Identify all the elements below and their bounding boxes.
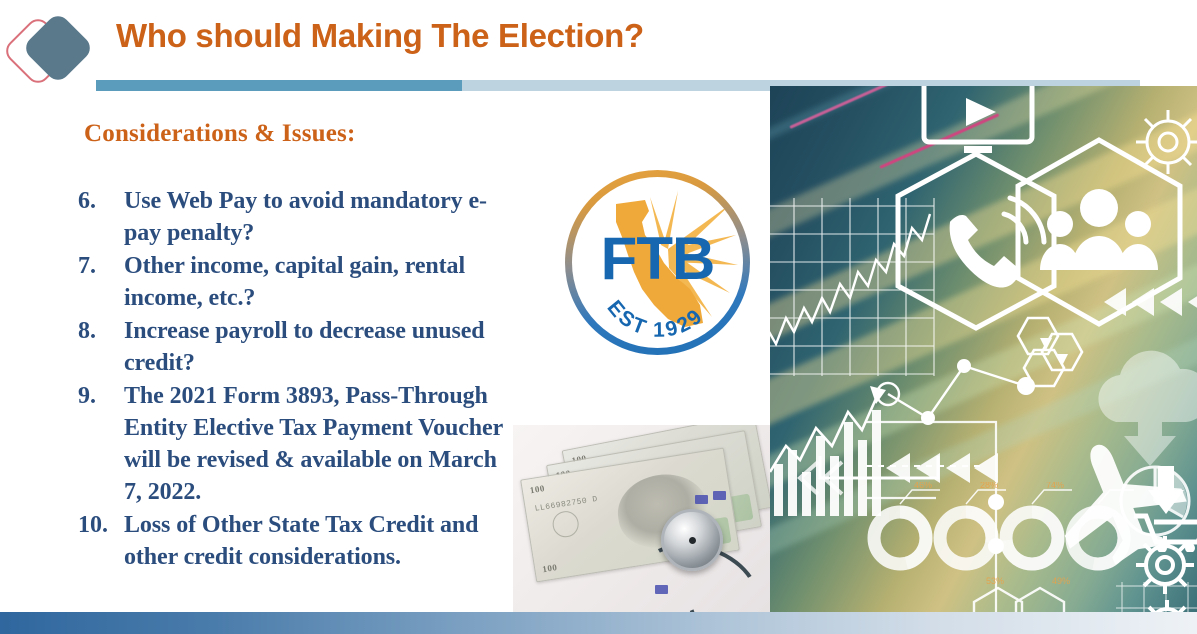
banknote-denomination: 100 — [529, 483, 545, 495]
list-item-number: 9. — [78, 380, 124, 508]
list-item: 7. Other income, capital gain, rental in… — [78, 250, 518, 314]
ftb-established-text: EST 1929 — [572, 177, 743, 348]
list-item-text: Other income, capital gain, rental incom… — [124, 250, 518, 314]
list-item: 6. Use Web Pay to avoid mandatory e-pay … — [78, 185, 518, 249]
header-divider-dark — [96, 80, 462, 91]
list-item-number: 6. — [78, 185, 124, 249]
triangle-arrows-icon — [882, 450, 1000, 486]
list-item-number: 10. — [78, 509, 124, 573]
svg-text:28%: 28% — [980, 482, 998, 490]
list-item-text: The 2021 Form 3893, Pass-Through Entity … — [124, 380, 518, 508]
list-item-text: Use Web Pay to avoid mandatory e-pay pen… — [124, 185, 518, 249]
list-item: 8. Increase payroll to decrease unused c… — [78, 315, 518, 379]
list-item: 10. Loss of Other State Tax Credit and o… — [78, 509, 518, 573]
list-item-text: Increase payroll to decrease unused cred… — [124, 315, 518, 379]
banknote-denomination: 100 — [542, 562, 558, 574]
list-item-number: 8. — [78, 315, 124, 379]
ftb-inner-disc: FTB EST 1929 — [572, 177, 743, 348]
banknote-seal-icon — [551, 509, 581, 539]
brand-logo-icon — [8, 14, 94, 92]
page-title: Who should Making The Election? — [116, 17, 644, 55]
svg-text:EST 1929: EST 1929 — [603, 296, 709, 342]
section-heading: Considerations & Issues: — [84, 120, 356, 148]
banknote-marker — [695, 495, 708, 504]
technology-collage-photo: 46% 28% 74% 53% 49% — [770, 86, 1197, 615]
svg-text:74%: 74% — [1046, 482, 1064, 490]
list-item: 9. The 2021 Form 3893, Pass-Through Enti… — [78, 380, 518, 508]
money-stethoscope-photo: 100 100 100 100 LL66982750 D — [513, 425, 771, 615]
issues-list: 6. Use Web Pay to avoid mandatory e-pay … — [78, 185, 518, 574]
triangle-arrows-icon — [1100, 286, 1197, 318]
pie-chart-icon — [1112, 458, 1197, 544]
footer-gradient-bar — [0, 612, 1197, 634]
list-item-text: Loss of Other State Tax Credit and other… — [124, 509, 518, 573]
chevron-arrows-icon — [784, 458, 854, 498]
list-item-number: 7. — [78, 250, 124, 314]
ftb-logo: FTB EST 1929 — [565, 170, 750, 355]
donut-chart-icon: 46% 28% 74% 53% 49% — [866, 482, 1136, 592]
gear-outline-icon — [1132, 106, 1197, 178]
stethoscope-chestpiece-icon — [661, 509, 723, 571]
line-chart-grid-icon — [1114, 580, 1197, 615]
slide-canvas: Who should Making The Election? Consider… — [0, 0, 1197, 634]
svg-text:46%: 46% — [914, 482, 932, 490]
banknote-marker — [713, 491, 726, 500]
honeycomb-icon — [946, 584, 1132, 615]
